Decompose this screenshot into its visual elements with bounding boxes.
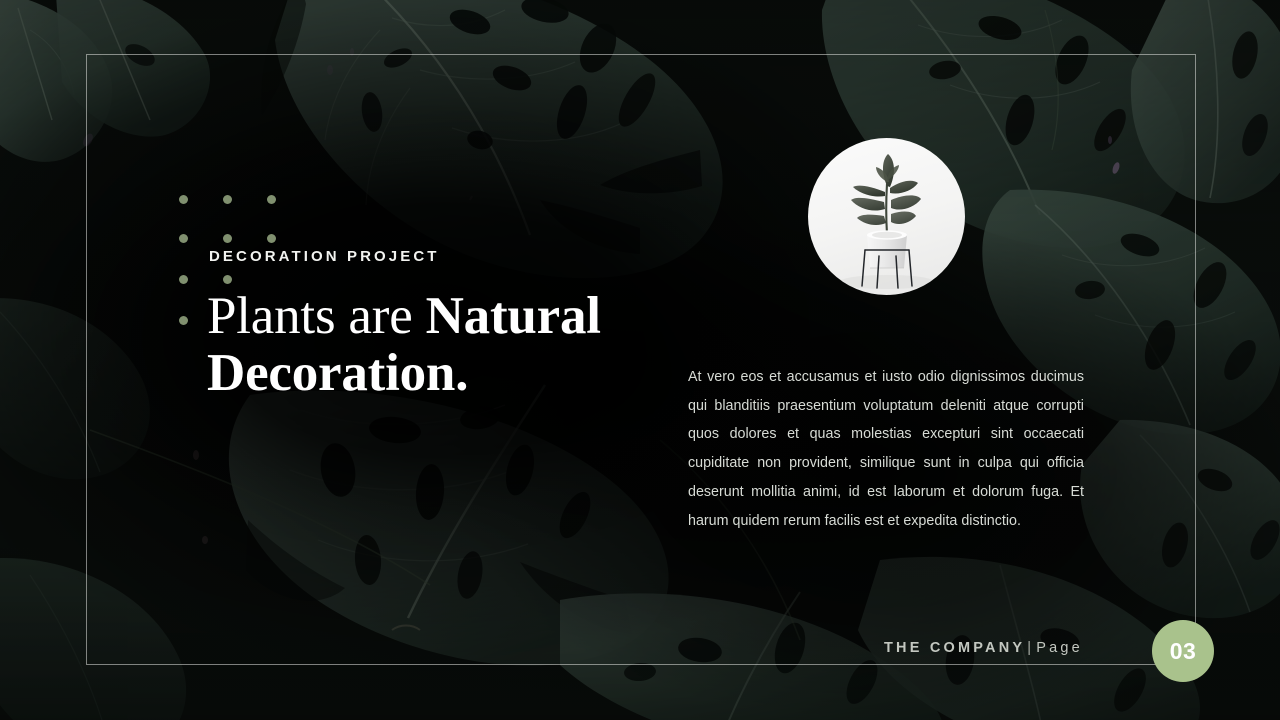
plant-photo-circle <box>808 138 965 295</box>
page-number-badge: 03 <box>1152 620 1214 682</box>
footer-separator: | <box>1025 640 1036 656</box>
grid-dot <box>223 234 232 243</box>
page-number-value: 03 <box>1170 638 1197 665</box>
grid-dot <box>179 195 188 204</box>
footer-caption: THE COMPANY|Page <box>884 640 1083 656</box>
grid-dot <box>179 316 188 325</box>
grid-dot <box>267 195 276 204</box>
page-title: Plants are Natural Decoration. <box>207 288 647 402</box>
footer-company-name: THE COMPANY <box>884 640 1025 656</box>
grid-dot <box>223 195 232 204</box>
grid-dot <box>267 234 276 243</box>
grid-dot <box>179 275 188 284</box>
body-paragraph: At vero eos et accusamus et iusto odio d… <box>688 363 1084 535</box>
grid-dot <box>223 275 232 284</box>
eyebrow-label: DECORATION PROJECT <box>209 248 440 265</box>
grid-dot <box>179 234 188 243</box>
presentation-slide: DECORATION PROJECT Plants are Natural De… <box>0 0 1280 720</box>
footer-page-label: Page <box>1036 640 1083 656</box>
headline-regular-part: Plants are <box>207 287 426 345</box>
